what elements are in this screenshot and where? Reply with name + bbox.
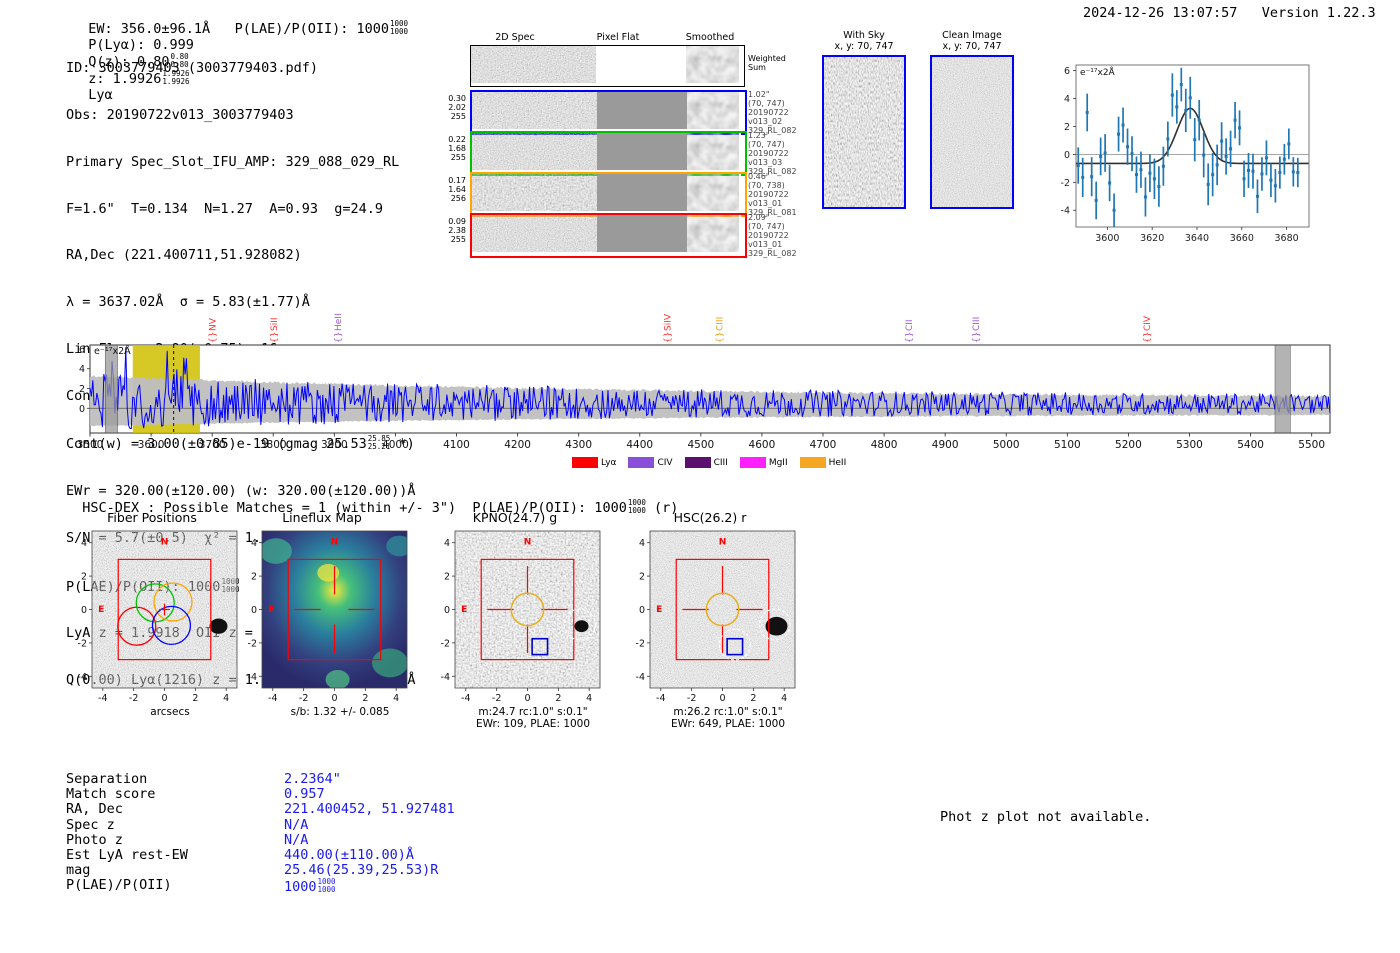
svg-text:4: 4	[223, 693, 229, 704]
svg-text:SiIV: SiIV	[664, 313, 674, 331]
svg-text:N: N	[524, 537, 532, 547]
svg-text:3700: 3700	[199, 439, 226, 451]
cutout-title: KPNO(24.7) g	[425, 510, 605, 525]
emission-line-fit-svg: -4-2024636003620364036603680e⁻¹⁷x2Å	[1040, 55, 1315, 255]
svg-text:4600: 4600	[749, 439, 776, 451]
svg-text:0: 0	[639, 605, 645, 616]
svg-text:0: 0	[331, 693, 337, 704]
fiber-val: 2.38	[436, 226, 466, 235]
svg-text:-2: -2	[441, 638, 450, 649]
info-seeing: F=1.6" T=0.134 N=1.27 A=0.93 g=24.9	[66, 202, 416, 218]
fiber-val: 255	[436, 153, 466, 162]
fiber-val: 0.17	[436, 176, 466, 185]
row-value: 25.46(25.39,25.53)R	[284, 863, 455, 878]
svg-text:E: E	[98, 605, 104, 615]
fiber-row-image	[472, 92, 741, 129]
svg-text:0: 0	[79, 404, 85, 415]
fiber-meta: 20190722	[748, 190, 797, 199]
svg-text:4: 4	[79, 364, 85, 375]
fiber-meta: v013_02	[748, 117, 797, 126]
svg-text:2: 2	[79, 384, 85, 395]
svg-text:2: 2	[192, 693, 198, 704]
with-sky-panel: With Sky x, y: 70, 747	[822, 30, 906, 209]
with-sky-sub: x, y: 70, 747	[822, 41, 906, 52]
fiber-meta: v013_03	[748, 158, 797, 167]
fiber-val: 0.09	[436, 217, 466, 226]
legend-label: HeII	[829, 458, 847, 468]
svg-text:4: 4	[251, 538, 257, 549]
fiber-row-values: 0.17 1.64 256	[436, 176, 466, 203]
cutout-caption2: EWr: 649, PLAE: 1000	[620, 718, 818, 730]
row-key: Spec z	[66, 818, 284, 833]
cutout-title: Lineflux Map	[232, 510, 412, 525]
svg-text:CIII: CIII	[716, 317, 726, 331]
cutout-lineflux-map: Lineflux Map NE-4-4-2-2002244 s/b: 1.32 …	[232, 510, 412, 725]
weighted-sum-strip	[470, 45, 745, 87]
legend-label: Lyα	[601, 458, 616, 468]
svg-text:-4: -4	[78, 672, 87, 683]
svg-text:-4: -4	[656, 693, 665, 704]
fiber-row	[470, 172, 747, 217]
fiber-meta: 20190722	[748, 149, 797, 158]
fiber-row-values: 0.09 2.38 255	[436, 217, 466, 244]
cutout-caption2: EWr: 109, PLAE: 1000	[425, 718, 623, 730]
svg-text:CII: CII	[905, 319, 915, 331]
svg-text:3680: 3680	[1275, 233, 1299, 244]
fiber-positions-image[interactable]: NE-4-4-2-2002244	[62, 525, 242, 720]
svg-text:-2: -2	[687, 693, 696, 704]
cutout-hsc-r: HSC(26.2) r NE-4-4-2-2002244 m:26.2 rc:1…	[620, 510, 800, 740]
legend-swatch	[685, 457, 711, 468]
fiber-meta: 20190722	[748, 108, 797, 117]
svg-text:4: 4	[444, 538, 450, 549]
row-key: Match score	[66, 787, 284, 802]
twod-spec-panel: 2D Spec Pixel Flat Smoothed	[428, 32, 768, 272]
fiber-meta: 1.02"	[748, 90, 797, 99]
fiber-meta: (70, 747)	[748, 140, 797, 149]
svg-text:2: 2	[1064, 122, 1070, 133]
fiber-meta: v013_01	[748, 199, 797, 208]
svg-text:-4: -4	[98, 693, 107, 704]
photz-message: Phot z plot not available.	[940, 810, 1151, 826]
svg-text:4200: 4200	[504, 439, 531, 451]
svg-text:0: 0	[524, 693, 530, 704]
fiber-row-image	[472, 215, 741, 252]
lineflux-map-image[interactable]: NE-4-4-2-2002244	[232, 525, 412, 720]
svg-text:-4: -4	[248, 672, 257, 683]
row-value: 2.2364"	[284, 772, 455, 787]
fiber-row-meta: 0.46" (70, 738) 20190722 v013_01 329_RL_…	[748, 172, 797, 217]
svg-text:{}: {}	[270, 332, 280, 343]
svg-text:2: 2	[362, 693, 368, 704]
svg-text:E: E	[656, 605, 662, 615]
svg-text:0: 0	[81, 605, 87, 616]
svg-text:-2: -2	[1061, 178, 1070, 189]
cutout-caption: m:24.7 rc:1.0" s:0.1"	[425, 706, 623, 718]
row-value: 440.00(±110.00)Å	[284, 848, 455, 863]
with-sky-title: With Sky	[822, 30, 906, 41]
svg-text:{}: {}	[905, 332, 915, 343]
table-row: RA, Dec221.400452, 51.927481	[66, 802, 455, 817]
info-radec: RA,Dec (221.400711,51.928082)	[66, 248, 416, 264]
svg-text:4: 4	[1064, 94, 1070, 105]
spectrum-legend: LyαCIVCIIIMgIIHeII	[572, 452, 858, 471]
cutout-caption: m:26.2 rc:1.0" s:0.1"	[620, 706, 818, 718]
row-value-text: 1000	[284, 879, 317, 895]
svg-text:6: 6	[1064, 66, 1070, 77]
fiber-row-image	[472, 133, 741, 170]
svg-text:{}: {}	[209, 332, 219, 343]
fiber-row	[470, 90, 747, 135]
fiber-meta: (70, 738)	[748, 181, 797, 190]
svg-text:5100: 5100	[1054, 439, 1081, 451]
svg-text:0: 0	[161, 693, 167, 704]
svg-text:4: 4	[81, 538, 87, 549]
svg-text:2: 2	[750, 693, 756, 704]
fiber-meta: 329_RL_082	[748, 249, 797, 258]
svg-text:N: N	[719, 537, 727, 547]
svg-text:3620: 3620	[1140, 233, 1164, 244]
row-key: P(LAE)/P(OII)	[66, 878, 284, 895]
svg-text:4400: 4400	[626, 439, 653, 451]
svg-text:5200: 5200	[1115, 439, 1142, 451]
svg-text:-4: -4	[461, 693, 470, 704]
svg-text:0: 0	[719, 693, 725, 704]
with-sky-image	[824, 57, 904, 207]
svg-text:-2: -2	[78, 638, 87, 649]
clean-image-title: Clean Image	[930, 30, 1014, 41]
table-row: P(LAE)/P(OII)100010001000	[66, 878, 455, 895]
fiber-val: 0.22	[436, 135, 466, 144]
cutout-xlabel: arcsecs	[62, 706, 260, 718]
svg-text:3900: 3900	[321, 439, 348, 451]
svg-text:4: 4	[393, 693, 399, 704]
svg-text:-2: -2	[248, 638, 257, 649]
svg-text:5400: 5400	[1237, 439, 1264, 451]
row-value: 0.957	[284, 787, 455, 802]
svg-text:-4: -4	[636, 672, 645, 683]
svg-text:SiII: SiII	[270, 317, 280, 331]
cutout-title: HSC(26.2) r	[620, 510, 800, 525]
svg-text:2: 2	[639, 572, 645, 583]
svg-text:4500: 4500	[687, 439, 714, 451]
cutout-fiber-positions: Fiber Positions NE-4-4-2-2002244 arcsecs	[62, 510, 242, 725]
svg-text:N: N	[161, 537, 169, 547]
table-row: Match score0.957	[66, 787, 455, 802]
col-title-2dspec: 2D Spec	[470, 32, 560, 43]
svg-text:{}: {}	[1143, 332, 1153, 343]
fiber-meta: v013_01	[748, 240, 797, 249]
table-row: mag25.46(25.39,25.53)R	[66, 863, 455, 878]
fiber-row	[470, 131, 747, 176]
svg-text:2: 2	[81, 572, 87, 583]
col-title-pixelflat: Pixel Flat	[573, 32, 663, 43]
svg-text:-4: -4	[441, 672, 450, 683]
fiber-row-meta: 2.09" (70, 747) 20190722 v013_01 329_RL_…	[748, 213, 797, 258]
svg-text:4800: 4800	[871, 439, 898, 451]
full-spectrum-plot: 0246350036003700380039004000410042004300…	[60, 305, 1340, 455]
row-value: N/A	[284, 818, 455, 833]
svg-text:3640: 3640	[1185, 233, 1209, 244]
fiber-meta: 2.09"	[748, 213, 797, 222]
svg-text:e⁻¹⁷x2Å: e⁻¹⁷x2Å	[94, 345, 131, 357]
fiber-row-values: 0.30 2.02 255	[436, 94, 466, 121]
full-spectrum-svg: 0246350036003700380039004000410042004300…	[60, 305, 1340, 455]
weighted-sum-line1: Weighted	[748, 54, 786, 63]
svg-text:3800: 3800	[260, 439, 287, 451]
fiber-val: 1.68	[436, 144, 466, 153]
svg-text:3660: 3660	[1230, 233, 1254, 244]
svg-text:4000: 4000	[382, 439, 409, 451]
legend-swatch	[800, 457, 826, 468]
clean-image	[932, 57, 1012, 207]
legend-label: CIII	[714, 458, 728, 468]
row-key: Separation	[66, 772, 284, 787]
cutout-kpno-g: KPNO(24.7) g NE-4-4-2-2002244 m:24.7 rc:…	[425, 510, 605, 740]
svg-text:{}: {}	[972, 332, 982, 343]
svg-text:-4: -4	[268, 693, 277, 704]
fiber-meta: 20190722	[748, 231, 797, 240]
svg-text:4300: 4300	[565, 439, 592, 451]
kpno-g-image[interactable]: NE-4-4-2-2002244	[425, 525, 605, 720]
svg-text:2: 2	[444, 572, 450, 583]
emission-line-fit-plot: -4-2024636003620364036603680e⁻¹⁷x2Å	[1040, 55, 1315, 255]
svg-text:3600: 3600	[1095, 233, 1119, 244]
match-plae-fraction: 10001000	[318, 878, 336, 894]
row-key: Photo z	[66, 833, 284, 848]
svg-text:-2: -2	[129, 693, 138, 704]
svg-text:{}: {}	[334, 332, 344, 343]
info-primary-spec: Primary Spec_Slot_IFU_AMP: 329_088_029_R…	[66, 155, 416, 171]
clean-image-sub: x, y: 70, 747	[930, 41, 1014, 52]
fiber-val: 1.64	[436, 185, 466, 194]
fiber-val: 255	[436, 112, 466, 121]
weighted-sum-image	[471, 46, 741, 83]
fiber-meta: 1.23"	[748, 131, 797, 140]
cutout-caption: s/b: 1.32 +/- 0.085	[232, 706, 430, 718]
svg-text:-2: -2	[492, 693, 501, 704]
svg-text:3500: 3500	[77, 439, 104, 451]
fiber-val: 0.30	[436, 94, 466, 103]
svg-text:e⁻¹⁷x2Å: e⁻¹⁷x2Å	[1080, 66, 1116, 78]
legend-label: MgII	[769, 458, 788, 468]
svg-text:CIV: CIV	[1143, 315, 1153, 331]
svg-text:-4: -4	[1061, 206, 1070, 217]
fiber-row-meta: 1.23" (70, 747) 20190722 v013_03 329_RL_…	[748, 131, 797, 176]
info-obs: Obs: 20190722v013_3003779403	[66, 108, 416, 124]
hsc-r-image[interactable]: NE-4-4-2-2002244	[620, 525, 800, 720]
svg-text:E: E	[461, 605, 467, 615]
fiber-meta: (70, 747)	[748, 99, 797, 108]
svg-text:0: 0	[251, 605, 257, 616]
svg-text:E: E	[268, 605, 274, 615]
svg-text:CIII: CIII	[972, 317, 982, 331]
svg-text:4700: 4700	[810, 439, 837, 451]
table-row: Separation2.2364"	[66, 772, 455, 787]
weighted-sum-line2: Sum	[748, 63, 786, 72]
svg-text:4: 4	[639, 538, 645, 549]
fiber-meta: (70, 747)	[748, 222, 797, 231]
row-value: N/A	[284, 833, 455, 848]
fiber-meta: 0.46"	[748, 172, 797, 181]
svg-text:2: 2	[555, 693, 561, 704]
row-key: Est LyA rest-EW	[66, 848, 284, 863]
row-value: 100010001000	[284, 878, 455, 895]
weighted-sum-label: Weighted Sum	[748, 54, 786, 72]
svg-text:0: 0	[1064, 150, 1070, 161]
fiber-row-image	[472, 174, 741, 211]
match-table-body: Separation2.2364" Match score0.957 RA, D…	[66, 772, 455, 896]
row-key: RA, Dec	[66, 802, 284, 817]
svg-text:-2: -2	[299, 693, 308, 704]
svg-text:4100: 4100	[443, 439, 470, 451]
fiber-val: 2.02	[436, 103, 466, 112]
svg-text:0: 0	[444, 605, 450, 616]
svg-text:4: 4	[781, 693, 787, 704]
svg-text:NV: NV	[209, 317, 219, 331]
row-value: 221.400452, 51.927481	[284, 802, 455, 817]
legend-swatch	[572, 457, 598, 468]
svg-text:{}: {}	[716, 332, 726, 343]
match-table: Separation2.2364" Match score0.957 RA, D…	[66, 772, 455, 896]
fiber-row-meta: 1.02" (70, 747) 20190722 v013_02 329_RL_…	[748, 90, 797, 135]
svg-text:{}: {}	[664, 332, 674, 343]
legend-swatch	[740, 457, 766, 468]
table-row: Est LyA rest-EW440.00(±110.00)Å	[66, 848, 455, 863]
fiber-row	[470, 213, 747, 258]
svg-text:3600: 3600	[138, 439, 165, 451]
svg-text:5300: 5300	[1176, 439, 1203, 451]
fiber-val: 256	[436, 194, 466, 203]
cutout-title: Fiber Positions	[62, 510, 242, 525]
svg-text:5000: 5000	[993, 439, 1020, 451]
svg-text:HeII: HeII	[334, 313, 344, 331]
svg-text:N: N	[331, 537, 339, 547]
svg-text:2: 2	[251, 572, 257, 583]
table-row: Spec zN/A	[66, 818, 455, 833]
svg-text:4: 4	[586, 693, 592, 704]
fiber-row-values: 0.22 1.68 255	[436, 135, 466, 162]
col-title-smoothed: Smoothed	[665, 32, 755, 43]
info-id: ID: 3003779403 (3003779403.pdf)	[66, 61, 416, 77]
svg-text:4900: 4900	[932, 439, 959, 451]
fiber-val: 255	[436, 235, 466, 244]
svg-text:5500: 5500	[1298, 439, 1325, 451]
svg-text:-2: -2	[636, 638, 645, 649]
table-row: Photo zN/A	[66, 833, 455, 848]
timestamp-version: 2024-12-26 13:07:57 Version 1.22.3	[1083, 5, 1376, 21]
row-key: mag	[66, 863, 284, 878]
clean-image-panel: Clean Image x, y: 70, 747	[930, 30, 1014, 209]
legend-swatch	[628, 457, 654, 468]
legend-label: CIV	[657, 458, 672, 468]
svg-text:6: 6	[79, 344, 85, 355]
